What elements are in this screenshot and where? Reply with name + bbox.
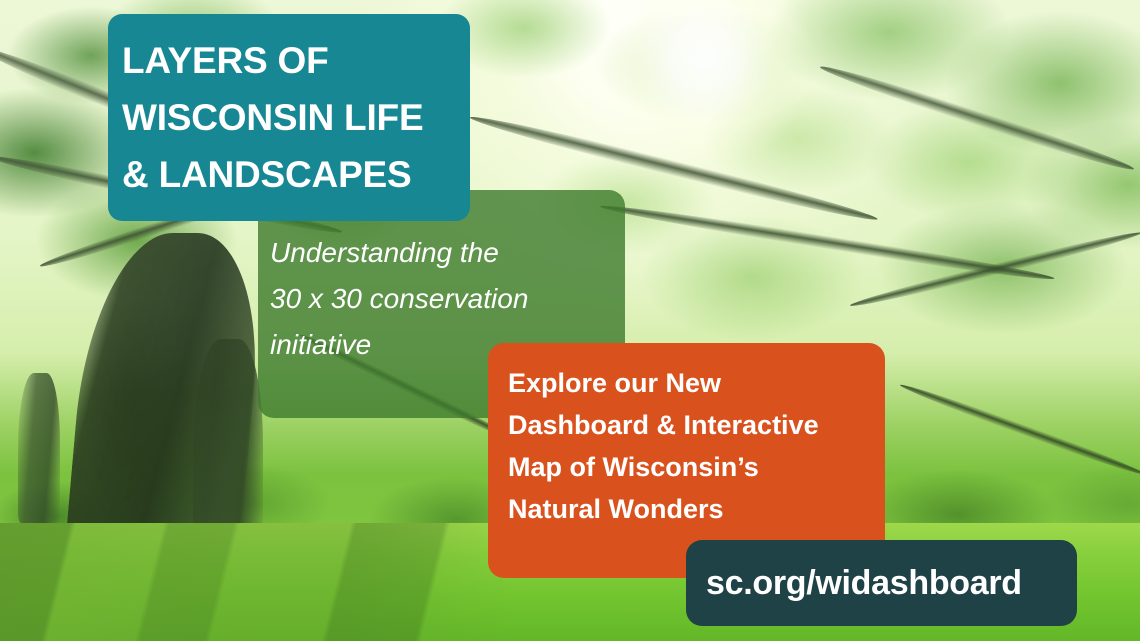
title-card: LAYERS OF WISCONSIN LIFE & LANDSCAPES [108,14,470,221]
tree-trunk-small [18,373,60,523]
cta-line-3: Map of Wisconsin’s [508,446,867,488]
cta-line-2: Dashboard & Interactive [508,404,867,446]
cta-line-1: Explore our New [508,362,867,404]
title-line-1: LAYERS OF [122,32,448,89]
promotional-poster: LAYERS OF WISCONSIN LIFE & LANDSCAPES Un… [0,0,1140,641]
url-text[interactable]: sc.org/widashboard [706,564,1022,603]
subtitle-line-2: 30 x 30 conservation [270,276,605,322]
title-line-3: & LANDSCAPES [122,146,448,203]
url-card[interactable]: sc.org/widashboard [686,540,1077,626]
subtitle-line-1: Understanding the [270,230,605,276]
title-line-2: WISCONSIN LIFE [122,89,448,146]
cta-line-4: Natural Wonders [508,488,867,530]
